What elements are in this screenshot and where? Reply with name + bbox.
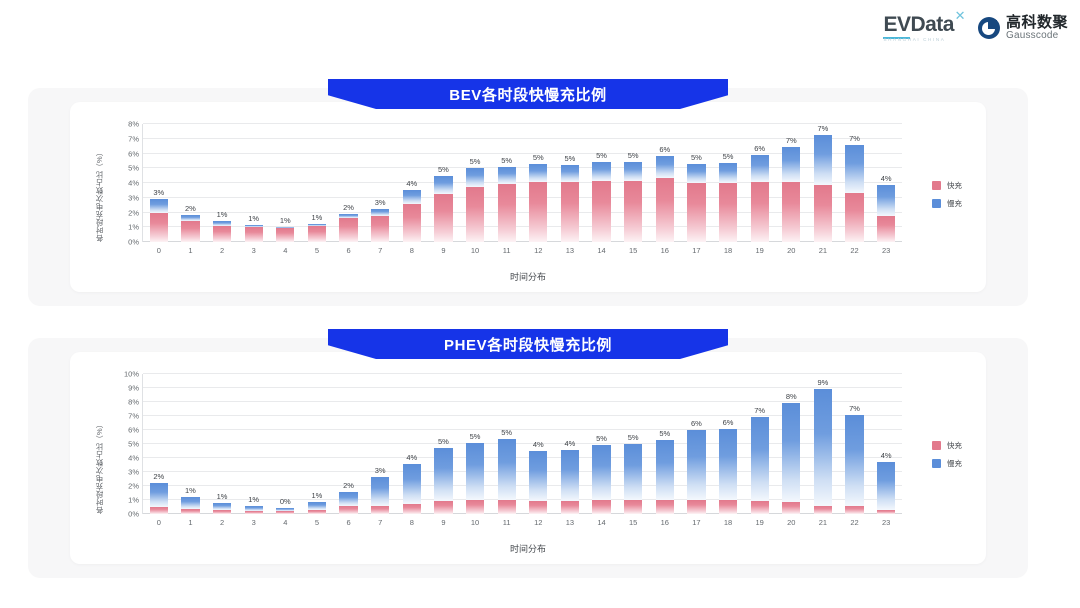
bev-fast-charge-segment[interactable] [687, 183, 705, 242]
bev-slow-charge-segment[interactable] [403, 190, 421, 203]
bev-slow-charge-segment[interactable] [656, 156, 674, 178]
phev-bar-value-label: 4% [881, 451, 892, 460]
bev-x-tick: 6 [346, 246, 350, 255]
bev-bar-slot[interactable]: 4%8 [396, 124, 428, 242]
phev-fast-charge-segment[interactable] [403, 504, 421, 514]
bev-fast-charge-segment[interactable] [845, 193, 863, 242]
phev-bar-slot[interactable]: 8%20 [776, 374, 808, 514]
phev-stacked-bar[interactable]: 5% [656, 440, 674, 514]
bev-bar-slot[interactable]: 5%11 [491, 124, 523, 242]
bev-stacked-bar[interactable]: 2% [181, 215, 199, 242]
bev-bar-slot[interactable]: 5%14 [586, 124, 618, 242]
evdata-data-text: Data [910, 13, 954, 36]
bev-bar-slot[interactable]: 5%12 [523, 124, 555, 242]
logo-group: EVData ✕ SHANGHAI CHINA 高科数聚 Gausscode [883, 14, 1068, 42]
bev-x-tick: 2 [220, 246, 224, 255]
phev-fast-charge-segment[interactable] [751, 501, 769, 514]
bev-stacked-bar[interactable]: 4% [877, 185, 895, 242]
phev-fast-charge-segment[interactable] [561, 501, 579, 514]
bev-stacked-bar[interactable]: 1% [276, 227, 294, 242]
bev-fast-charge-segment[interactable] [308, 226, 326, 242]
phev-x-tick: 1 [188, 518, 192, 527]
phev-stacked-bar[interactable]: 7% [845, 415, 863, 514]
bev-bar-value-label: 5% [565, 154, 576, 163]
bev-bar-value-label: 5% [438, 165, 449, 174]
bev-bar-value-label: 6% [754, 144, 765, 153]
bev-fast-charge-segment[interactable] [592, 181, 610, 242]
phev-stacked-bar[interactable]: 3% [371, 477, 389, 514]
phev-bar-value-label: 1% [248, 495, 259, 504]
bev-fast-charge-segment[interactable] [751, 182, 769, 242]
bev-slow-charge-segment[interactable] [498, 167, 516, 185]
phev-bar-value-label: 5% [659, 429, 670, 438]
phev-x-tick: 3 [252, 518, 256, 527]
bev-slow-charge-segment[interactable] [687, 164, 705, 183]
phev-x-tick: 5 [315, 518, 319, 527]
bev-bar-value-label: 1% [248, 214, 259, 223]
phev-slow-charge-segment[interactable] [213, 503, 231, 510]
bev-bar-slot[interactable]: 6%16 [649, 124, 681, 242]
bev-stacked-bar[interactable]: 5% [719, 163, 737, 242]
phev-bar-slot[interactable]: 5%10 [459, 374, 491, 514]
evdata-subtitle: SHANGHAI CHINA [883, 37, 954, 42]
bev-bar-slot[interactable]: 2%1 [175, 124, 207, 242]
phev-stacked-bar[interactable]: 5% [466, 443, 484, 514]
phev-stacked-bar[interactable]: 5% [434, 448, 452, 514]
phev-stacked-bar[interactable]: 5% [498, 439, 516, 514]
phev-slow-charge-segment[interactable] [466, 443, 484, 500]
bev-chart-title-ribbon: BEV各时段快慢充比例 [328, 79, 728, 109]
bev-bar-value-label: 7% [818, 124, 829, 133]
phev-fast-charge-segment[interactable] [245, 511, 263, 514]
phev-stacked-bar[interactable]: 2% [150, 483, 168, 515]
gausscode-name-cn: 高科数聚 [1006, 15, 1068, 31]
bev-x-tick: 18 [724, 246, 732, 255]
phev-fast-charge-segment[interactable] [814, 506, 832, 514]
phev-fast-charge-segment[interactable] [877, 510, 895, 514]
bev-legend-swatch [932, 199, 941, 208]
phev-fast-charge-segment[interactable] [371, 506, 389, 514]
bev-fast-charge-segment[interactable] [561, 182, 579, 242]
phev-x-tick: 22 [850, 518, 858, 527]
phev-x-axis-title: 时间分布 [70, 542, 986, 555]
phev-slow-charge-segment[interactable] [719, 429, 737, 500]
bev-fast-charge-segment[interactable] [339, 218, 357, 242]
bev-bar-slot[interactable]: 1%4 [270, 124, 302, 242]
bev-plot-area: 0%1%2%3%4%5%6%7%8%3%02%11%21%31%41%52%63… [142, 124, 902, 242]
phev-bar-slot[interactable]: 7%22 [839, 374, 871, 514]
phev-legend-item[interactable]: 快充 [932, 440, 962, 451]
bev-bar-slot[interactable]: 5%9 [428, 124, 460, 242]
phev-x-tick: 11 [503, 518, 511, 527]
bev-slow-charge-segment[interactable] [751, 155, 769, 182]
bev-stacked-bar[interactable]: 3% [150, 199, 168, 242]
phev-legend-item[interactable]: 慢充 [932, 458, 962, 469]
bev-y-tick: 1% [128, 223, 143, 232]
bev-slow-charge-segment[interactable] [529, 164, 547, 182]
bev-x-tick: 23 [882, 246, 890, 255]
bev-y-tick: 8% [128, 120, 143, 129]
bev-bar-value-label: 1% [217, 210, 228, 219]
bev-slow-charge-segment[interactable] [624, 162, 642, 180]
bev-chart: 各时段充电次数占比（%）0%1%2%3%4%5%6%7%8%3%02%11%21… [70, 102, 986, 292]
bev-stacked-bar[interactable]: 7% [814, 135, 832, 242]
phev-legend-swatch [932, 441, 941, 450]
phev-y-tick: 4% [128, 454, 143, 463]
phev-bar-slot[interactable]: 4%13 [554, 374, 586, 514]
phev-y-tick: 10% [124, 370, 143, 379]
bev-bar-value-label: 5% [628, 151, 639, 160]
bev-stacked-bar[interactable]: 3% [371, 209, 389, 242]
phev-bar-slot[interactable]: 4%8 [396, 374, 428, 514]
phev-fast-charge-segment[interactable] [624, 500, 642, 514]
bev-slow-charge-segment[interactable] [371, 209, 389, 216]
phev-y-tick: 9% [128, 384, 143, 393]
phev-x-tick: 17 [692, 518, 700, 527]
bev-bar-value-label: 5% [596, 151, 607, 160]
phev-stacked-bar[interactable]: 8% [782, 403, 800, 514]
bev-stacked-bar[interactable]: 5% [529, 164, 547, 242]
phev-y-tick: 0% [128, 510, 143, 519]
phev-fast-charge-segment[interactable] [687, 500, 705, 514]
phev-slow-charge-segment[interactable] [624, 444, 642, 500]
phev-bar-group: 2%01%11%21%30%41%52%63%74%85%95%105%114%… [143, 374, 902, 514]
phev-bar-slot[interactable]: 7%19 [744, 374, 776, 514]
phev-stacked-bar[interactable]: 1% [181, 497, 199, 514]
bev-stacked-bar[interactable]: 7% [782, 147, 800, 242]
phev-fast-charge-segment[interactable] [592, 500, 610, 514]
bev-slow-charge-segment[interactable] [181, 215, 199, 222]
bev-stacked-bar[interactable]: 1% [213, 221, 231, 242]
bev-fast-charge-segment[interactable] [403, 204, 421, 242]
phev-slow-charge-segment[interactable] [782, 403, 800, 502]
phev-stacked-bar[interactable]: 1% [213, 503, 231, 514]
bev-x-tick: 8 [410, 246, 414, 255]
phev-fast-charge-segment[interactable] [656, 500, 674, 514]
bev-bar-slot[interactable]: 7%20 [776, 124, 808, 242]
phev-slow-charge-segment[interactable] [308, 502, 326, 510]
phev-bar-value-label: 6% [691, 419, 702, 428]
phev-slow-charge-segment[interactable] [529, 451, 547, 501]
bev-bar-slot[interactable]: 5%18 [712, 124, 744, 242]
phev-x-tick: 0 [157, 518, 161, 527]
bev-fast-charge-segment[interactable] [150, 213, 168, 242]
phev-slow-charge-segment[interactable] [687, 430, 705, 500]
bev-stacked-bar[interactable]: 5% [592, 162, 610, 242]
phev-bar-slot[interactable]: 1%1 [175, 374, 207, 514]
bev-slow-charge-segment[interactable] [150, 199, 168, 213]
bev-legend: 快充慢充 [932, 180, 962, 209]
phev-legend: 快充慢充 [932, 440, 962, 469]
phev-bar-slot[interactable]: 5%9 [428, 374, 460, 514]
phev-slow-charge-segment[interactable] [339, 492, 357, 505]
phev-bar-slot[interactable]: 0%4 [270, 374, 302, 514]
phev-stacked-bar[interactable]: 4% [529, 451, 547, 514]
bev-chart-title: BEV各时段快慢充比例 [449, 84, 606, 105]
phev-x-tick: 15 [629, 518, 637, 527]
bev-x-tick: 22 [850, 246, 858, 255]
bev-bar-group: 3%02%11%21%31%41%52%63%74%85%95%105%115%… [143, 124, 902, 242]
phev-bar-value-label: 5% [628, 433, 639, 442]
phev-x-tick: 14 [597, 518, 605, 527]
phev-bar-slot[interactable]: 5%16 [649, 374, 681, 514]
phev-stacked-bar[interactable]: 6% [719, 429, 737, 514]
bev-bar-slot[interactable]: 7%21 [807, 124, 839, 242]
evdata-cross-icon: ✕ [955, 9, 965, 22]
bev-chart-card: 各时段充电次数占比（%）0%1%2%3%4%5%6%7%8%3%02%11%21… [70, 102, 986, 292]
phev-stacked-bar[interactable]: 1% [245, 506, 263, 514]
phev-bar-value-label: 1% [217, 492, 228, 501]
bev-slow-charge-segment[interactable] [845, 145, 863, 194]
bev-x-tick: 14 [597, 246, 605, 255]
bev-legend-item[interactable]: 快充 [932, 180, 962, 191]
bev-bar-value-label: 6% [659, 145, 670, 154]
phev-bar-slot[interactable]: 4%23 [870, 374, 902, 514]
bev-bar-slot[interactable]: 1%5 [301, 124, 333, 242]
phev-fast-charge-segment[interactable] [308, 510, 326, 514]
bev-bar-value-label: 2% [185, 204, 196, 213]
phev-legend-label: 慢充 [947, 458, 962, 469]
phev-slow-charge-segment[interactable] [592, 445, 610, 500]
phev-stacked-bar[interactable]: 2% [339, 492, 357, 514]
phev-fast-charge-segment[interactable] [181, 509, 199, 514]
phev-bar-slot[interactable]: 9%21 [807, 374, 839, 514]
phev-bar-value-label: 5% [470, 432, 481, 441]
bev-slow-charge-segment[interactable] [466, 168, 484, 187]
phev-slow-charge-segment[interactable] [751, 417, 769, 501]
phev-x-tick: 12 [534, 518, 542, 527]
bev-chart-panel: BEV各时段快慢充比例 各时段充电次数占比（%）0%1%2%3%4%5%6%7%… [28, 88, 1028, 306]
bev-x-tick: 10 [471, 246, 479, 255]
bev-bar-slot[interactable]: 4%23 [870, 124, 902, 242]
phev-stacked-bar[interactable]: 4% [561, 450, 579, 514]
phev-fast-charge-segment[interactable] [339, 506, 357, 514]
bev-fast-charge-segment[interactable] [213, 226, 231, 242]
bev-bar-value-label: 4% [881, 174, 892, 183]
bev-y-tick: 4% [128, 179, 143, 188]
bev-bar-slot[interactable]: 5%17 [681, 124, 713, 242]
bev-y-tick: 3% [128, 193, 143, 202]
bev-x-axis-title: 时间分布 [70, 270, 986, 283]
phev-y-tick: 3% [128, 468, 143, 477]
bev-x-tick: 3 [252, 246, 256, 255]
phev-x-tick: 2 [220, 518, 224, 527]
bev-legend-item[interactable]: 慢充 [932, 198, 962, 209]
bev-legend-label: 慢充 [947, 198, 962, 209]
bev-fast-charge-segment[interactable] [877, 216, 895, 242]
bev-bar-slot[interactable]: 3%7 [364, 124, 396, 242]
bev-bar-slot[interactable]: 7%22 [839, 124, 871, 242]
phev-bar-value-label: 7% [849, 404, 860, 413]
phev-y-tick: 5% [128, 440, 143, 449]
phev-legend-label: 快充 [947, 440, 962, 451]
phev-slow-charge-segment[interactable] [814, 389, 832, 505]
gausscode-name-en: Gausscode [1006, 30, 1068, 41]
bev-x-tick: 13 [566, 246, 574, 255]
phev-y-tick: 2% [128, 482, 143, 491]
bev-fast-charge-segment[interactable] [529, 182, 547, 242]
bev-y-axis-title: 各时段充电次数占比（%） [94, 124, 105, 242]
bev-bar-slot[interactable]: 3%0 [143, 124, 175, 242]
phev-stacked-bar[interactable]: 5% [592, 445, 610, 514]
bev-stacked-bar[interactable]: 6% [751, 155, 769, 242]
bev-stacked-bar[interactable]: 5% [466, 168, 484, 242]
bev-stacked-bar[interactable]: 1% [245, 225, 263, 242]
bev-fast-charge-segment[interactable] [466, 187, 484, 242]
phev-legend-swatch [932, 459, 941, 468]
phev-stacked-bar[interactable]: 0% [276, 508, 294, 514]
bev-bar-slot[interactable]: 1%2 [206, 124, 238, 242]
phev-y-tick: 7% [128, 412, 143, 421]
phev-bar-value-label: 4% [406, 453, 417, 462]
phev-bar-value-label: 4% [533, 440, 544, 449]
bev-fast-charge-segment[interactable] [371, 216, 389, 242]
bev-slow-charge-segment[interactable] [814, 135, 832, 185]
phev-fast-charge-segment[interactable] [434, 501, 452, 514]
phev-bar-slot[interactable]: 5%11 [491, 374, 523, 514]
phev-fast-charge-segment[interactable] [498, 500, 516, 514]
phev-x-tick: 19 [756, 518, 764, 527]
phev-plot-area: 0%1%2%3%4%5%6%7%8%9%10%2%01%11%21%30%41%… [142, 374, 902, 514]
phev-y-tick: 6% [128, 426, 143, 435]
phev-fast-charge-segment[interactable] [782, 502, 800, 514]
bev-bar-value-label: 7% [849, 134, 860, 143]
phev-bar-value-label: 2% [153, 472, 164, 481]
evdata-wordmark: EVData ✕ [883, 14, 954, 35]
phev-fast-charge-segment[interactable] [719, 500, 737, 514]
bev-fast-charge-segment[interactable] [498, 184, 516, 242]
bev-y-tick: 2% [128, 208, 143, 217]
bev-stacked-bar[interactable]: 5% [498, 167, 516, 242]
phev-bar-value-label: 2% [343, 481, 354, 490]
phev-bar-slot[interactable]: 5%14 [586, 374, 618, 514]
bev-fast-charge-segment[interactable] [719, 183, 737, 242]
bev-x-tick: 15 [629, 246, 637, 255]
phev-stacked-bar[interactable]: 7% [751, 417, 769, 514]
phev-bar-slot[interactable]: 1%5 [301, 374, 333, 514]
phev-slow-charge-segment[interactable] [150, 483, 168, 508]
bev-x-tick: 17 [692, 246, 700, 255]
phev-slow-charge-segment[interactable] [877, 462, 895, 510]
bev-fast-charge-segment[interactable] [181, 221, 199, 242]
bev-stacked-bar[interactable]: 2% [339, 214, 357, 242]
bev-slow-charge-segment[interactable] [434, 176, 452, 194]
bev-stacked-bar[interactable]: 5% [561, 165, 579, 242]
bev-x-tick: 5 [315, 246, 319, 255]
bev-stacked-bar[interactable]: 7% [845, 145, 863, 242]
phev-bar-slot[interactable]: 5%15 [617, 374, 649, 514]
bev-fast-charge-segment[interactable] [434, 194, 452, 242]
phev-stacked-bar[interactable]: 4% [877, 462, 895, 514]
bev-bar-value-label: 3% [375, 198, 386, 207]
bev-bar-value-label: 4% [406, 179, 417, 188]
phev-bar-slot[interactable]: 1%2 [206, 374, 238, 514]
phev-stacked-bar[interactable]: 4% [403, 464, 421, 514]
bev-slow-charge-segment[interactable] [561, 165, 579, 182]
bev-stacked-bar[interactable]: 5% [624, 162, 642, 242]
phev-x-tick: 16 [661, 518, 669, 527]
bev-slow-charge-segment[interactable] [877, 185, 895, 216]
phev-bar-value-label: 0% [280, 497, 291, 506]
bev-x-tick: 16 [661, 246, 669, 255]
phev-bar-slot[interactable]: 2%6 [333, 374, 365, 514]
bev-fast-charge-segment[interactable] [656, 178, 674, 242]
bev-y-tick: 7% [128, 134, 143, 143]
phev-slow-charge-segment[interactable] [371, 477, 389, 506]
phev-fast-charge-segment[interactable] [466, 500, 484, 514]
phev-x-tick: 13 [566, 518, 574, 527]
bev-bar-value-label: 2% [343, 203, 354, 212]
phev-x-tick: 23 [882, 518, 890, 527]
bev-fast-charge-segment[interactable] [245, 227, 263, 242]
phev-fast-charge-segment[interactable] [276, 511, 294, 514]
bev-bar-slot[interactable]: 6%19 [744, 124, 776, 242]
phev-stacked-bar[interactable]: 9% [814, 389, 832, 514]
bev-slow-charge-segment[interactable] [719, 163, 737, 183]
phev-fast-charge-segment[interactable] [213, 510, 231, 514]
phev-stacked-bar[interactable]: 1% [308, 502, 326, 514]
phev-fast-charge-segment[interactable] [150, 507, 168, 514]
bev-fast-charge-segment[interactable] [276, 228, 294, 242]
bev-bar-slot[interactable]: 1%3 [238, 124, 270, 242]
phev-bar-slot[interactable]: 2%0 [143, 374, 175, 514]
phev-slow-charge-segment[interactable] [845, 415, 863, 506]
bev-stacked-bar[interactable]: 4% [403, 190, 421, 242]
phev-bar-slot[interactable]: 1%3 [238, 374, 270, 514]
phev-x-tick: 7 [378, 518, 382, 527]
phev-stacked-bar[interactable]: 5% [624, 444, 642, 514]
bev-bar-value-label: 3% [153, 188, 164, 197]
bev-y-tick: 5% [128, 164, 143, 173]
phev-bar-slot[interactable]: 3%7 [364, 374, 396, 514]
bev-stacked-bar[interactable]: 5% [687, 164, 705, 242]
bev-slow-charge-segment[interactable] [592, 162, 610, 180]
phev-slow-charge-segment[interactable] [498, 439, 516, 500]
bev-bar-slot[interactable]: 5%15 [617, 124, 649, 242]
bev-stacked-bar[interactable]: 6% [656, 156, 674, 242]
phev-slow-charge-segment[interactable] [181, 497, 199, 509]
bev-bar-slot[interactable]: 5%10 [459, 124, 491, 242]
phev-y-axis-title: 各时段充电次数占比（%） [94, 374, 105, 514]
bev-stacked-bar[interactable]: 1% [308, 224, 326, 242]
bev-fast-charge-segment[interactable] [624, 181, 642, 242]
phev-bar-slot[interactable]: 4%12 [523, 374, 555, 514]
phev-bar-value-label: 6% [723, 418, 734, 427]
phev-bar-slot[interactable]: 6%18 [712, 374, 744, 514]
phev-slow-charge-segment[interactable] [434, 448, 452, 500]
bev-fast-charge-segment[interactable] [814, 185, 832, 242]
bev-stacked-bar[interactable]: 5% [434, 176, 452, 242]
bev-fast-charge-segment[interactable] [782, 182, 800, 242]
phev-bar-slot[interactable]: 6%17 [681, 374, 713, 514]
phev-stacked-bar[interactable]: 6% [687, 430, 705, 514]
phev-fast-charge-segment[interactable] [529, 501, 547, 514]
bev-y-tick: 6% [128, 149, 143, 158]
phev-fast-charge-segment[interactable] [845, 506, 863, 514]
phev-x-tick: 9 [441, 518, 445, 527]
gausscode-text-block: 高科数聚 Gausscode [1006, 15, 1068, 42]
gausscode-mark-icon [978, 17, 1000, 39]
phev-bar-value-label: 8% [786, 392, 797, 401]
gausscode-logo: 高科数聚 Gausscode [978, 15, 1068, 42]
bev-slow-charge-segment[interactable] [782, 147, 800, 182]
phev-slow-charge-segment[interactable] [403, 464, 421, 504]
phev-slow-charge-segment[interactable] [656, 440, 674, 500]
bev-bar-value-label: 5% [691, 153, 702, 162]
bev-bar-slot[interactable]: 5%13 [554, 124, 586, 242]
phev-slow-charge-segment[interactable] [561, 450, 579, 501]
bev-bar-slot[interactable]: 2%6 [333, 124, 365, 242]
